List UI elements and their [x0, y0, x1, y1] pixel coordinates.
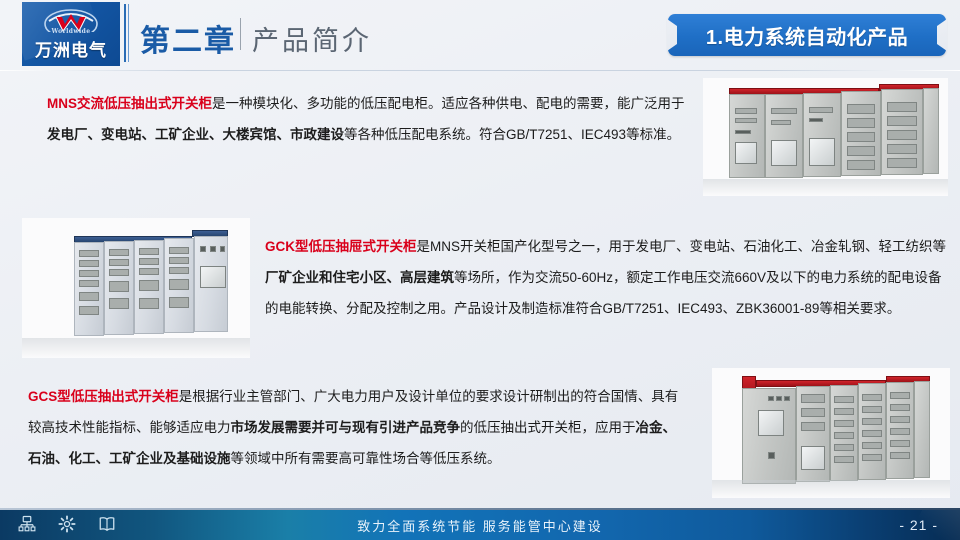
- page-subtitle: 产品简介: [252, 19, 372, 58]
- slide-footer: 致力全面系统节能 服务能管中心建设 - 21 -: [0, 510, 960, 540]
- section-ribbon-label: 1.电力系统自动化产品: [706, 21, 908, 50]
- paragraph-gcs-lead: GCS型低压抽出式开关柜: [28, 389, 179, 404]
- paragraph-mns-body-1: 是一种模块化、多功能的低压配电柜。适应各种供电、配电的需要，能广泛用于: [212, 96, 685, 111]
- paragraph-gcs-bold-1: 市场发展需要并可与现有引进产品竞争: [231, 420, 461, 435]
- paragraph-gcs-body-2: 的低压抽出式开关柜，应用于: [460, 420, 636, 435]
- paragraph-gck: GCK型低压抽屉式开关柜是MNS开关柜国产化型号之一，用于发电厂、变电站、石油化…: [265, 231, 955, 324]
- chapter-title: 第二章: [140, 16, 236, 60]
- paragraph-gcs-body-3: 等领域中所有需要高可靠性场合等低压系统。: [231, 451, 501, 466]
- title-separator: [240, 18, 241, 50]
- logo-worldwide-text: Worldwide: [22, 28, 120, 35]
- gcs-switchgear-photo: [712, 368, 950, 498]
- header-rule: [0, 70, 960, 71]
- page-number: - 21 -: [899, 510, 938, 540]
- company-logo: Worldwide 万洲电气: [22, 2, 120, 66]
- section-ribbon: 1.电力系统自动化产品: [668, 14, 946, 56]
- footer-slogan: 致力全面系统节能 服务能管中心建设: [0, 510, 960, 540]
- paragraph-mns-lead: MNS交流低压抽出式开关柜: [47, 96, 212, 111]
- paragraph-gck-body-1: 是MNS开关柜国产化型号之一，用于发电厂、变电站、石油化工、冶金轧钢、轻工纺织等: [417, 239, 947, 254]
- gck-switchgear-photo: [22, 218, 250, 358]
- paragraph-gck-lead: GCK型低压抽屉式开关柜: [265, 239, 417, 254]
- paragraph-mns: MNS交流低压抽出式开关柜是一种模块化、多功能的低压配电柜。适应各种供电、配电的…: [47, 88, 697, 150]
- paragraph-gcs: GCS型低压抽出式开关柜是根据行业主管部门、广大电力用户及设计单位的要求设计研制…: [28, 381, 688, 474]
- paragraph-gck-bold-1: 厂矿企业和住宅小区、高层建筑: [265, 270, 454, 285]
- paragraph-mns-bold-1: 发电厂、变电站、工矿企业、大楼宾馆、市政建设: [47, 127, 344, 142]
- logo-company-name: 万洲电气: [22, 36, 120, 61]
- mns-switchgear-photo: [703, 78, 948, 196]
- paragraph-mns-body-2: 等各种低压配电系统。符合GB/T7251、IEC493等标准。: [344, 127, 680, 142]
- header-divider: [124, 4, 129, 62]
